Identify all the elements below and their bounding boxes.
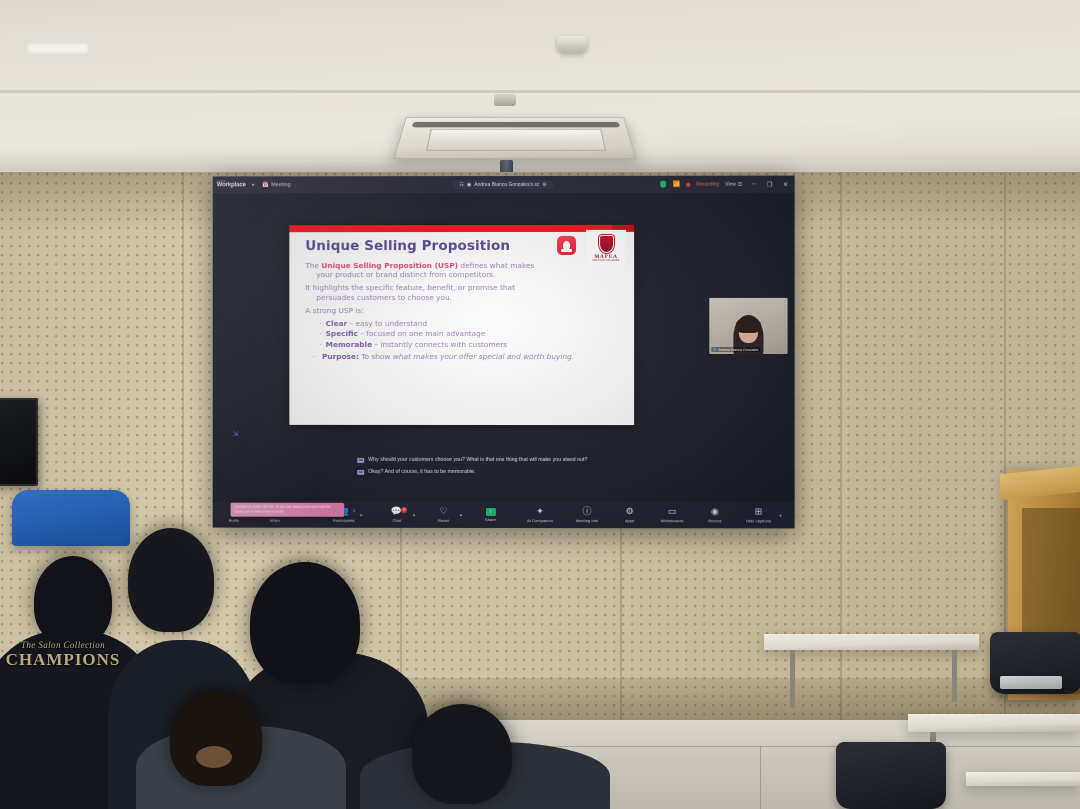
recording-label: Recording [696,181,719,187]
smoke-detector-icon [557,36,587,53]
meeting-title-pill[interactable]: ☷ ◉ Andrea Bianca Gonzales's sc ⊖ [452,180,553,189]
chevron-up-icon[interactable]: ▴ [460,512,462,517]
participants-count: 1 [353,508,355,513]
view-icon: ☰ [738,181,743,187]
slide-paragraph-3: A strong USP is: [305,306,620,316]
ceiling-light [28,44,88,53]
minimize-pill-icon[interactable]: ⊖ [542,181,546,187]
caption-icon: AB [357,470,364,475]
p2-line1: It highlights the specific feature, bene… [305,283,515,292]
zoom-workplace-logo: zoom Workplace [217,181,246,189]
toolbar-label-react: React [438,518,449,523]
toolbar-button-chat[interactable]: 💬 9 Chat ▴ [383,507,410,523]
desk [908,714,1080,732]
toolbar-label-audio: Audio [229,517,239,522]
chair [836,742,946,809]
mapua-logo: MAPUA MALAYAN COLLEGES [586,230,626,266]
p1-post: defines what makes [458,261,534,270]
list-item: Memorable – instantly connects with cust… [319,340,620,349]
recording-dot-icon [686,182,690,186]
grid-icon: ☷ [459,182,463,188]
laptop [1000,676,1062,689]
toolbar-button-share[interactable]: ↑ Share [477,508,504,523]
zoom-brand-name: Workplace [217,184,246,189]
toolbar-label-apps: Apps [625,518,634,523]
p1-bold: Unique Selling Proposition (USP) [321,261,458,270]
p1-pre: The [305,261,321,270]
classroom-scene: The Salon Collection CHAMPIONS zoom Work… [0,0,1080,809]
slide-paragraph-1: The Unique Selling Proposition (USP) def… [305,261,620,280]
info-icon: ⓘ [583,507,592,516]
maximize-button[interactable]: ❐ [764,180,774,188]
toolbar-label-video: Video [270,517,280,522]
caption-icon: AB [357,458,364,463]
live-captions: AB Why should your customers choose you?… [357,457,657,481]
purpose-italic: what makes your offer special and worth … [393,352,574,361]
caption-row: AB Okay? And of course, it has to be mem… [357,469,657,477]
view-button[interactable]: View ☰ [725,181,742,187]
share-screen-icon: ↑ [486,508,496,516]
chevron-down-icon[interactable]: ▾ [252,182,255,188]
desk [764,634,979,650]
ac-vent-slot [412,122,621,127]
audience-head [250,562,360,684]
caption-row: AB Why should your customers choose you?… [357,457,657,465]
audience-head [128,528,214,632]
wall-mounted-tv [0,398,38,486]
bullet-2-rest: – instantly connects with customers [372,340,507,349]
purpose-rest: To show [359,352,393,361]
share-indicator-icon: ⇲ [233,430,239,438]
toolbar-button-meeting-info[interactable]: ⓘ Meeting Info [570,507,604,523]
bullet-2-bold: Memorable [326,340,373,349]
audience-head [170,690,262,786]
close-button[interactable]: ✕ [781,180,791,188]
toolbar-label-whiteboards: Whiteboards [661,518,684,523]
ac-grille [426,129,606,151]
desk [966,772,1080,786]
zoom-title-bar: zoom Workplace ▾ 📅 Meeting ☷ ◉ Andrea Bi… [213,176,795,194]
hair-tie [196,746,232,768]
audience-head [34,556,112,646]
usp-badge-icon [557,236,576,255]
projected-zoom-window: zoom Workplace ▾ 📅 Meeting ☷ ◉ Andrea Bi… [213,176,795,529]
chat-unread-badge: 9 [401,507,407,513]
whiteboard-icon: ▭ [668,507,677,516]
view-label: View [725,181,736,187]
sparkle-icon: ✦ [536,507,544,516]
list-item: Specific – focused on one main advantage [319,329,620,339]
ceiling [0,0,1080,175]
projector-mount [494,94,516,106]
shared-slide: Unique Selling Proposition MAPUA MALAYAN… [289,225,634,425]
video-person-hair [736,317,761,333]
encryption-shield-icon[interactable] [661,181,667,188]
audience-head [412,704,512,804]
chevron-up-icon[interactable]: ▴ [360,512,362,517]
participant-video-tile[interactable]: Andrea Bianca Gonzales [709,298,787,354]
toolbar-label-participants: Participants [333,518,354,523]
toolbar-label-record: Record [708,518,721,523]
toolbar-label-hide-captions: Hide captions [746,518,771,523]
network-icon[interactable]: 📶 [673,181,681,188]
toolbar-button-record[interactable]: ◉ Record [701,507,728,523]
microphone-icon [713,348,716,351]
usp-bullet-list: Clear – easy to understand Specific – fo… [305,319,620,349]
mapua-subtitle: MALAYAN COLLEGES [593,259,620,261]
p2-line2: persuades customers to choose you. [305,293,620,303]
toolbar-button-react[interactable]: ♡ React ▴ [430,507,457,523]
captions-icon: ⊞ [755,508,763,517]
ceiling-ac-unit [393,117,636,159]
heart-icon: ♡ [439,507,447,516]
ceiling-seam [0,90,1080,93]
toolbar-button-ai-companion[interactable]: ✦ AI Companion [522,507,558,523]
meeting-tab-label: Meeting [271,182,291,188]
chevron-up-icon[interactable]: ▴ [780,513,782,518]
unmute-tooltip: Unmute my audio click Alt. Or you can si… [231,503,345,517]
bullet-0-rest: – easy to understand [347,319,427,328]
toolbar-label-share: Share [485,517,496,522]
chevron-up-icon[interactable]: ▴ [413,512,415,517]
floor-tile-line [760,746,761,809]
purpose-line: Purpose: To show what makes your offer s… [305,352,620,361]
participant-name-tag: Andrea Bianca Gonzales [711,347,760,352]
window-controls: 📶 Recording View ☰ – ❐ ✕ [661,180,791,188]
meeting-title: Andrea Bianca Gonzales's sc [474,181,539,187]
purpose-bold: Purpose: [322,352,359,361]
slide-body: The Unique Selling Proposition (USP) def… [305,261,620,362]
toolbar-button-apps[interactable]: ⚙ Apps [616,507,643,523]
caption-text: Okay? And of course, it has to be memora… [368,469,475,477]
meeting-tab[interactable]: 📅 Meeting [262,182,290,188]
desk-leg [790,650,795,708]
toolbar-label-meeting-info: Meeting Info [576,518,599,523]
bullet-0-bold: Clear [326,319,348,328]
toolbar-button-hide-captions[interactable]: ⊞ Hide captions ▴ [740,508,776,524]
list-item: Clear – easy to understand [319,319,620,329]
minimize-button[interactable]: – [748,181,758,188]
blue-chair [12,490,130,546]
mapua-shield-icon [599,234,614,252]
participant-name: Andrea Bianca Gonzales [718,347,758,351]
lock-icon: ◉ [467,182,471,188]
bullet-1-rest: – focused on one main advantage [358,329,485,338]
toolbar-button-whiteboards[interactable]: ▭ Whiteboards [655,507,689,523]
p1-line2: your product or brand distinct from comp… [305,270,620,280]
toolbar-label-chat: Chat [392,518,401,523]
meeting-icon: 📅 [262,182,269,188]
caption-text: Why should your customers choose you? Wh… [368,457,587,465]
apps-icon: ⚙ [626,507,634,516]
record-icon: ◉ [711,507,719,516]
badge-base [561,249,572,252]
bullet-1-bold: Specific [326,329,358,338]
slide-paragraph-2: It highlights the specific feature, bene… [305,283,620,302]
toolbar-label-ai-companion: AI Companion [527,518,553,523]
zoom-meeting-body: Unique Selling Proposition MAPUA MALAYAN… [213,193,795,529]
toolbar-button-more[interactable]: ⊖ More [793,508,795,524]
desk-leg [952,650,957,702]
